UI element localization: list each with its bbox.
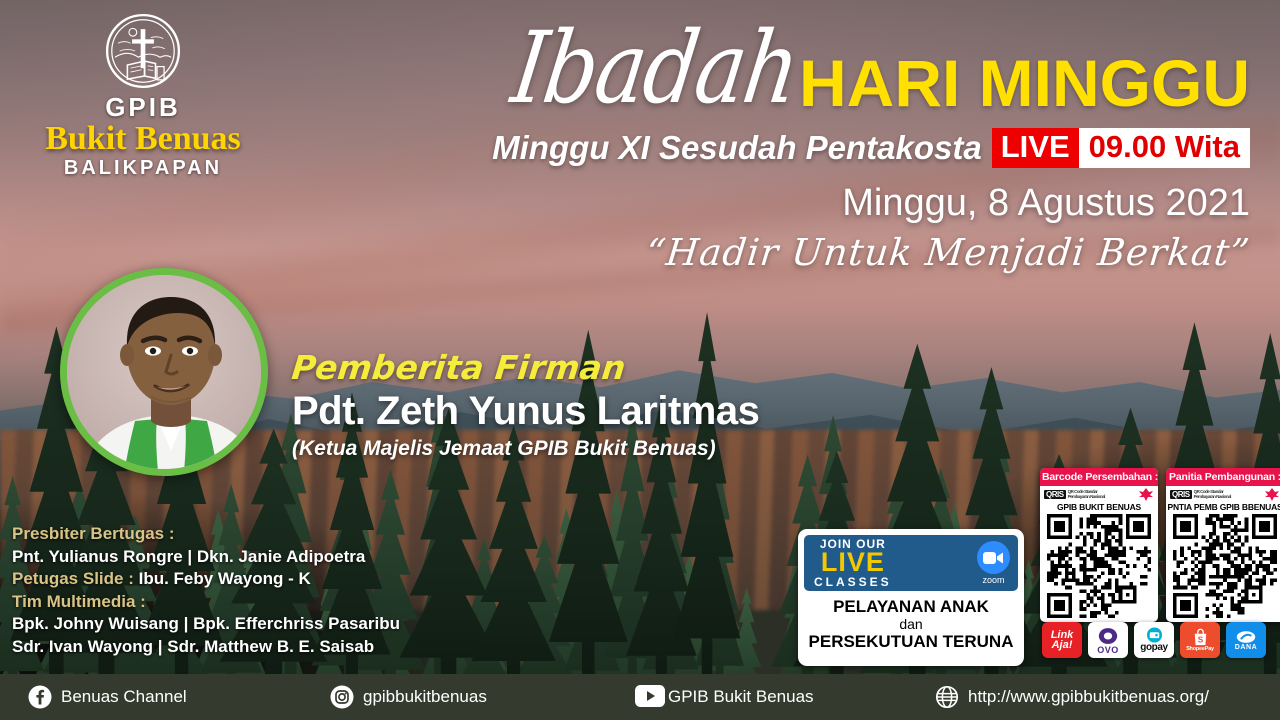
gopay-logo-icon[interactable]: gopay [1134, 622, 1174, 658]
logo-church-name: Bukit Benuas [18, 121, 268, 157]
liturgical-subtitle: Minggu XI Sesudah Pentakosta [492, 129, 982, 167]
presbiter-names: Pnt. Yulianus Rongre | Dkn. Janie Adipoe… [12, 546, 400, 568]
preacher-name: Pdt. Zeth Yunus Laritmas [292, 389, 759, 434]
logo-city: BALIKPAPAN [18, 157, 268, 179]
qris-merchant-name: PNTIA PEMB GPIB BBENUAS [1166, 501, 1280, 514]
ovo-label: OVO [1097, 645, 1119, 655]
slide-operator-label: Petugas Slide : [12, 569, 139, 588]
svg-text:S: S [1197, 636, 1203, 645]
shopeepay-label: ShopeePay [1186, 646, 1214, 652]
multimedia-label: Tim Multimedia : [12, 591, 400, 613]
payment-methods-row: Link Aja! OVO gopay S ShopeePay [1042, 622, 1266, 658]
gpn-garuda-icon [1264, 488, 1280, 501]
qris-sub2: Pembayaran Nasional [1068, 494, 1105, 499]
title-bold-word: HARI MINGGU [799, 50, 1250, 122]
footer-item-instagram[interactable]: gpibbukitbenuas [330, 685, 487, 709]
live-text: LIVE [821, 550, 885, 576]
facebook-icon [28, 685, 52, 709]
qr-code-icon[interactable] [1047, 514, 1151, 618]
footer-label-website: http://www.gpibbukitbenuas.org/ [968, 687, 1209, 707]
footer-label-youtube: GPIB Bukit Benuas [668, 687, 814, 707]
zoom-video-camera-icon [977, 541, 1010, 574]
qris-card-building[interactable]: Panitia Pembangunan : QRIS QR Code Stand… [1166, 468, 1280, 622]
classes-text: CLASSES [814, 576, 892, 588]
subtitle-row: Minggu XI Sesudah Pentakosta LIVE 09.00 … [370, 128, 1250, 168]
live-classes-line1: PELAYANAN ANAK [833, 597, 989, 617]
qris-card-offering[interactable]: Barcode Persembahan : QRIS QR Code Stand… [1040, 468, 1158, 622]
youtube-icon [635, 685, 659, 709]
footer-label-facebook: Benuas Channel [61, 687, 187, 707]
preacher-role: (Ketua Majelis Jemaat GPIB Bukit Benuas) [292, 437, 759, 461]
service-time: 09.00 Wita [1079, 128, 1250, 168]
church-logo-block: GPIB Bukit Benuas BALIKPAPAN [18, 12, 268, 179]
live-classes-line2: dan [899, 617, 922, 632]
footer-item-facebook[interactable]: Benuas Channel [28, 685, 187, 709]
main-title-row: Ibadah HARI MINGGU [370, 14, 1250, 122]
live-classes-line3: PERSEKUTUAN TERUNA [809, 632, 1014, 652]
live-label: LIVE [992, 128, 1079, 168]
qris-brand-logo: QRIS QR Code Standar Pembayaran Nasional [1170, 490, 1231, 500]
presbiter-label: Presbiter Bertugas : [12, 523, 400, 545]
headline-block: Ibadah HARI MINGGU Minggu XI Sesudah Pen… [370, 14, 1250, 274]
footer-item-website[interactable]: http://www.gpibbukitbenuas.org/ [935, 685, 1209, 709]
church-cross-emblem-icon [104, 12, 182, 90]
live-time-badge: LIVE 09.00 Wita [992, 128, 1250, 168]
multimedia-names-line2: Sdr. Ivan Wayong | Sdr. Matthew B. E. Sa… [12, 636, 400, 658]
linkaja-logo-icon[interactable]: Link Aja! [1042, 622, 1082, 658]
qr-code-icon[interactable] [1173, 514, 1277, 618]
qris-card-header: Barcode Persembahan : [1040, 468, 1158, 486]
preacher-label: Pemberita Firman [290, 348, 761, 387]
preacher-info: Pemberita Firman Pdt. Zeth Yunus Laritma… [292, 348, 759, 461]
globe-icon [935, 685, 959, 709]
service-tagline: “Hadir Untuk Menjadi Berkat” [368, 231, 1253, 274]
qris-merchant-name: GPIB BUKIT BENUAS [1040, 501, 1158, 514]
service-credits: Presbiter Bertugas : Pnt. Yulianus Rongr… [12, 523, 400, 658]
multimedia-names-line1: Bpk. Johny Wuisang | Bpk. Efferchriss Pa… [12, 613, 400, 635]
slide-operator-name: Ibu. Feby Wayong - K [139, 569, 311, 588]
slide-operator-row: Petugas Slide : Ibu. Feby Wayong - K [12, 568, 400, 590]
linkaja-line2: Aja! [1052, 640, 1073, 650]
gpn-garuda-icon [1138, 488, 1154, 501]
dana-logo-icon[interactable]: DANA [1226, 622, 1266, 658]
gopay-label: gopay [1140, 642, 1167, 653]
instagram-icon [330, 685, 354, 709]
logo-org-text: GPIB [18, 94, 268, 121]
title-script-word: Ibadah [506, 18, 804, 122]
pastor-portrait-photo [67, 275, 261, 469]
zoom-label: zoom [982, 575, 1004, 585]
qris-card-header: Panitia Pembangunan : [1166, 468, 1280, 486]
qris-brand-logo: QRIS QR Code Standar Pembayaran Nasional [1044, 490, 1105, 500]
live-classes-card[interactable]: JOIN OUR LIVE CLASSES zoom PELAYANAN ANA… [798, 529, 1024, 666]
qris-donation-panels: Barcode Persembahan : QRIS QR Code Stand… [1040, 468, 1280, 622]
preacher-portrait [60, 268, 268, 476]
footer-item-youtube[interactable]: GPIB Bukit Benuas [635, 685, 814, 709]
service-date: Minggu, 8 Agustus 2021 [370, 182, 1250, 225]
service-announcement-poster: GPIB Bukit Benuas BALIKPAPAN Ibadah HARI… [0, 0, 1280, 720]
qris-sub2: Pembayaran Nasional [1194, 494, 1231, 499]
ovo-logo-icon[interactable]: OVO [1088, 622, 1128, 658]
shopeepay-logo-icon[interactable]: S ShopeePay [1180, 622, 1220, 658]
zoom-live-classes-banner: JOIN OUR LIVE CLASSES zoom [804, 535, 1018, 591]
footer-label-instagram: gpibbukitbenuas [363, 687, 487, 707]
social-media-footer: Benuas Channel gpibbukitbenuas GPIB [0, 674, 1280, 720]
dana-label: DANA [1235, 644, 1258, 651]
